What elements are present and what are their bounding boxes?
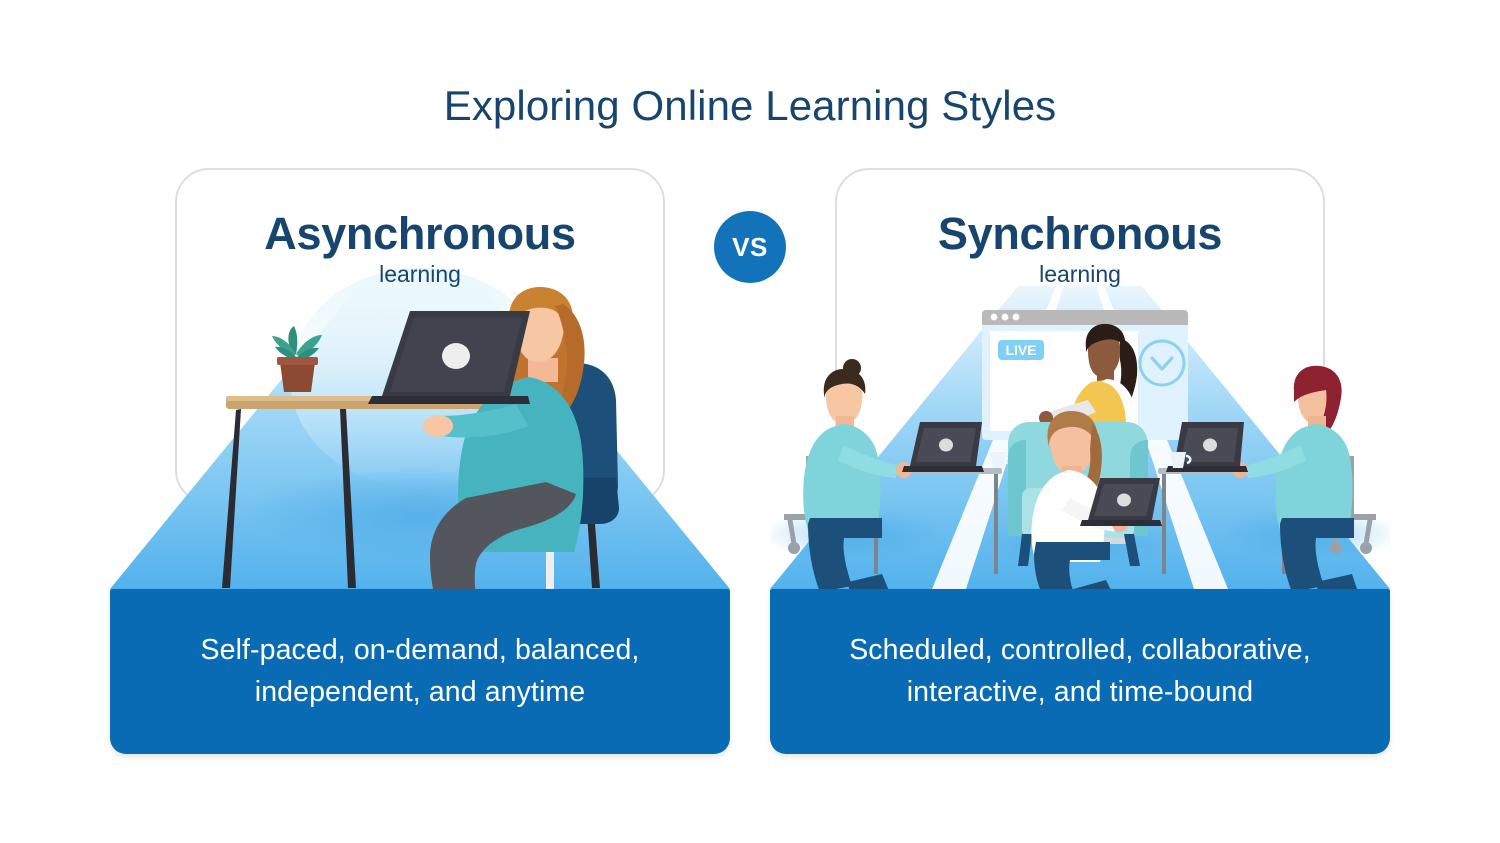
heading-main-asynchronous: Asynchronous [110,210,730,257]
column-asynchronous: Asynchronous learning [110,168,730,758]
column-synchronous: Synchronous learning LIVE [770,168,1390,758]
vs-badge: VS [714,211,786,283]
vs-badge-label: VS [732,232,768,263]
banner-asynchronous: Self-paced, on-demand, balanced, indepen… [110,589,730,754]
infographic-canvas: Exploring Online Learning Styles [0,0,1500,843]
banner-text-asynchronous: Self-paced, on-demand, balanced, indepen… [110,630,730,713]
perspective-floor-synchronous [770,286,1390,596]
heading-sub-synchronous: learning [770,261,1390,288]
heading-synchronous: Synchronous learning [770,210,1390,288]
banner-text-synchronous: Scheduled, controlled, collaborative, in… [770,630,1390,713]
banner-synchronous: Scheduled, controlled, collaborative, in… [770,589,1390,754]
heading-sub-asynchronous: learning [110,261,730,288]
heading-main-synchronous: Synchronous [770,210,1390,257]
heading-asynchronous: Asynchronous learning [110,210,730,288]
perspective-floor-asynchronous [110,286,730,596]
page-title: Exploring Online Learning Styles [0,82,1500,130]
